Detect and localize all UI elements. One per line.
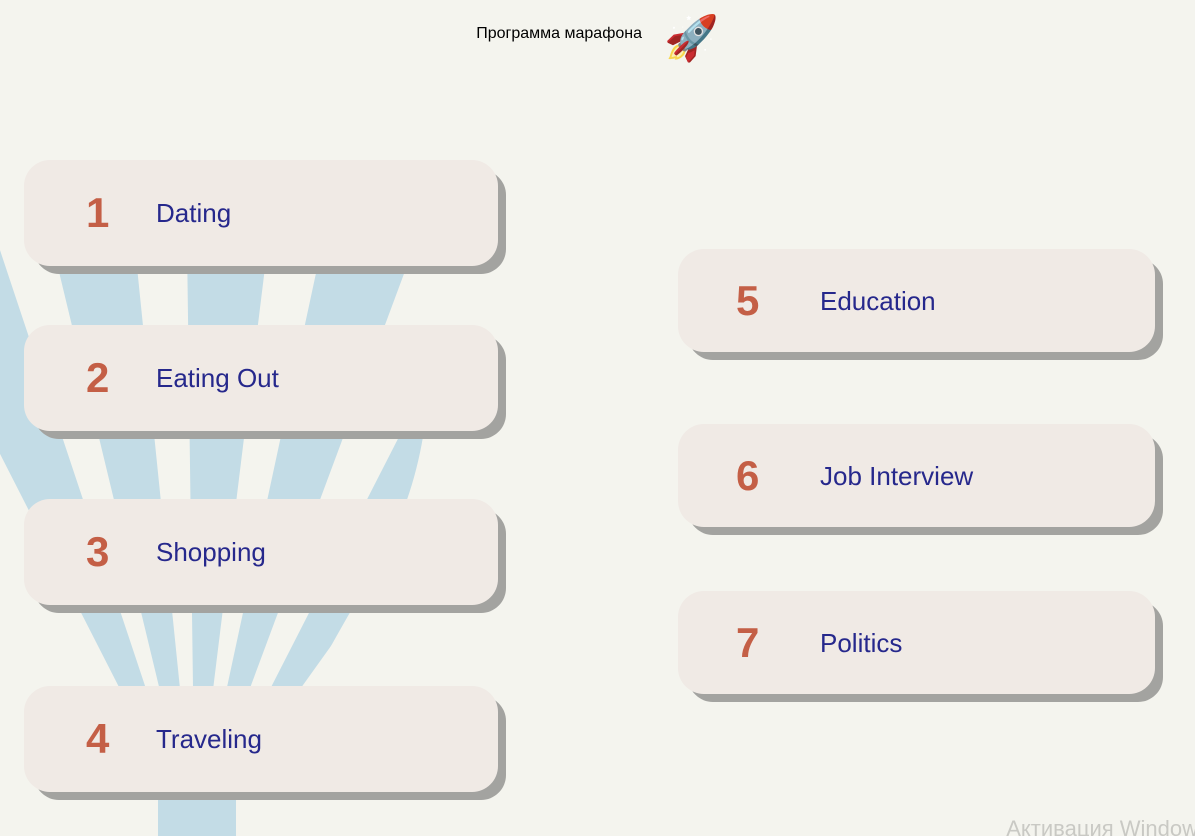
page-header: Программа марафона 🚀 <box>0 12 1195 56</box>
rocket-icon: 🚀 <box>664 17 719 61</box>
agenda-card-label: Dating <box>156 200 231 226</box>
page-title: Программа марафона <box>476 25 642 43</box>
agenda-card-number: 2 <box>86 357 140 399</box>
agenda-card-1[interactable]: 1 Dating <box>24 160 498 266</box>
agenda-card-7[interactable]: 7 Politics <box>678 591 1155 694</box>
agenda-card-label: Education <box>820 288 936 314</box>
agenda-card-label: Traveling <box>156 726 262 752</box>
agenda-card-4[interactable]: 4 Traveling <box>24 686 498 792</box>
agenda-card-number: 5 <box>736 280 792 322</box>
agenda-card-label: Shopping <box>156 539 266 565</box>
windows-activation-watermark: Активация Windows <box>1006 816 1195 836</box>
agenda-card-3[interactable]: 3 Shopping <box>24 499 498 605</box>
agenda-card-number: 7 <box>736 622 792 664</box>
agenda-card-label: Job Interview <box>820 463 973 489</box>
agenda-card-5[interactable]: 5 Education <box>678 249 1155 352</box>
agenda-card-number: 1 <box>86 192 140 234</box>
agenda-card-label: Politics <box>820 630 902 656</box>
agenda-card-number: 6 <box>736 455 792 497</box>
agenda-card-number: 4 <box>86 718 140 760</box>
agenda-card-number: 3 <box>86 531 140 573</box>
agenda-card-2[interactable]: 2 Eating Out <box>24 325 498 431</box>
agenda-card-label: Eating Out <box>156 365 279 391</box>
agenda-card-6[interactable]: 6 Job Interview <box>678 424 1155 527</box>
